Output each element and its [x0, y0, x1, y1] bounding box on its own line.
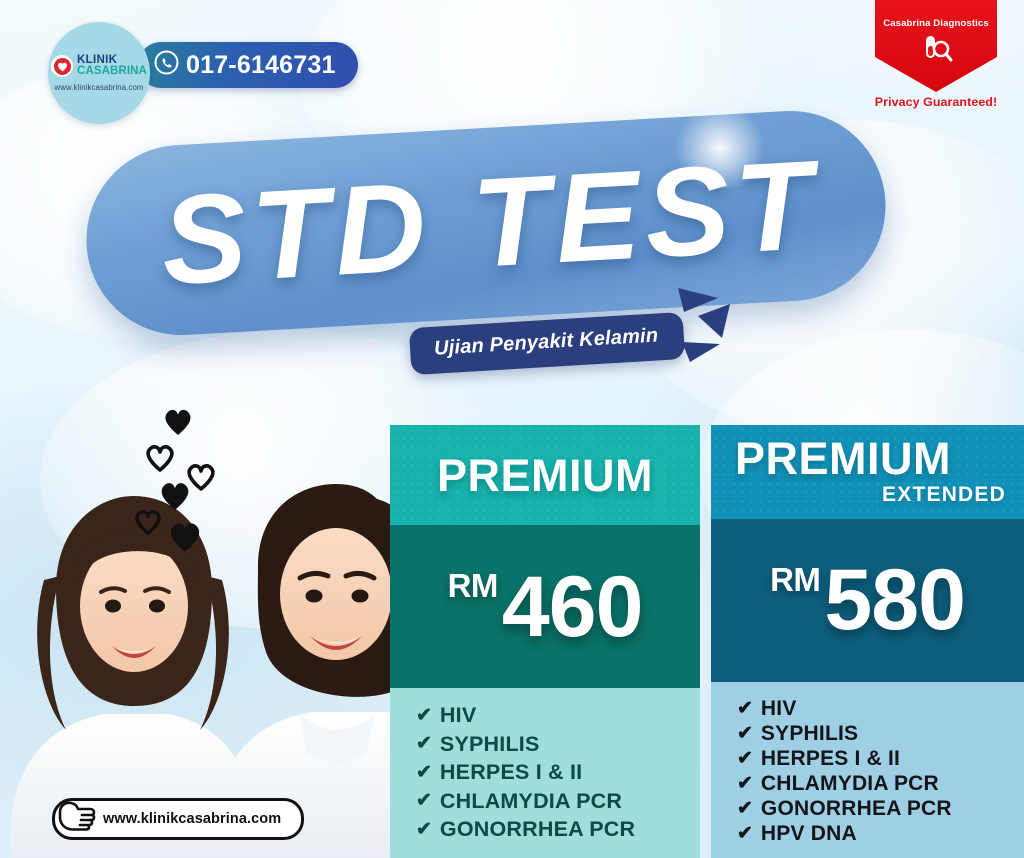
- check-icon: ✔: [416, 791, 432, 810]
- test-list: ✔ HIV ✔ SYPHILIS ✔ HERPES I & II ✔ CHLAM…: [711, 682, 1024, 858]
- check-icon: ✔: [416, 763, 432, 782]
- heart-doodle-icon: [145, 443, 175, 477]
- currency-label: RM: [448, 567, 498, 605]
- privacy-badge: Casabrina Diagnostics Privacy Guaranteed…: [866, 0, 1006, 109]
- price-amount: 580: [824, 557, 965, 643]
- logo-wordmark: KLINIK CASABRINA: [77, 55, 147, 78]
- list-item: ✔ HERPES I & II: [737, 748, 1024, 770]
- test-name: HPV DNA: [761, 823, 857, 845]
- pointing-hand-icon: [56, 800, 98, 837]
- check-icon: ✔: [737, 699, 753, 718]
- whatsapp-icon: [154, 50, 179, 80]
- clinic-logo[interactable]: KLINIK CASABRINA www.klinikcasabrina.com: [48, 22, 150, 124]
- list-item: ✔ HPV DNA: [737, 823, 1024, 845]
- privacy-guaranteed-text: Privacy Guaranteed!: [866, 95, 1006, 109]
- diagnostics-label: Casabrina Diagnostics: [883, 18, 989, 29]
- heart-doodle-icon: [134, 508, 162, 540]
- check-icon: ✔: [737, 799, 753, 818]
- check-icon: ✔: [737, 724, 753, 743]
- phone-number-text: 017-6146731: [186, 51, 336, 80]
- test-name: HIV: [761, 698, 797, 720]
- website-url-text: www.klinikcasabrina.com: [103, 811, 281, 827]
- package-title: PREMIUM: [408, 453, 682, 498]
- check-icon: ✔: [737, 824, 753, 843]
- logo-website-text: www.klinikcasabrina.com: [55, 83, 144, 92]
- list-item: ✔ HERPES I & II: [416, 761, 700, 784]
- std-test-promo-poster: STD TEST Ujian Penyakit Kelamin KLINIK C…: [0, 0, 1024, 858]
- pricing-cards: PREMIUM RM 460 ✔ HIV ✔ SYPHILIS ✔ HERPES…: [390, 425, 1024, 858]
- package-subtitle: EXTENDED: [729, 483, 1006, 507]
- test-name: GONORRHEA PCR: [761, 798, 952, 820]
- test-name: HERPES I & II: [761, 748, 900, 770]
- heart-doodle-icon: [168, 520, 202, 558]
- check-icon: ✔: [737, 749, 753, 768]
- package-card-premium[interactable]: PREMIUM RM 460 ✔ HIV ✔ SYPHILIS ✔ HERPES…: [390, 425, 700, 858]
- test-name: CHLAMYDIA PCR: [440, 790, 622, 813]
- test-name: SYPHILIS: [761, 723, 858, 745]
- starburst-arrow-icon: [672, 282, 736, 373]
- whatsapp-phone-button[interactable]: 017-6146731: [138, 42, 358, 88]
- couple-photo: [0, 438, 400, 858]
- list-item: ✔ CHLAMYDIA PCR: [737, 773, 1024, 795]
- logo-casabrina-text: CASABRINA: [77, 66, 147, 78]
- package-card-premium-extended[interactable]: PREMIUM EXTENDED RM 580 ✔ HIV ✔ SYPHILIS…: [711, 425, 1024, 858]
- test-name: CHLAMYDIA PCR: [761, 773, 939, 795]
- check-icon: ✔: [416, 820, 432, 839]
- test-tube-magnifier-icon: [918, 34, 954, 69]
- list-item: ✔ SYPHILIS: [737, 723, 1024, 745]
- check-icon: ✔: [416, 706, 432, 725]
- list-item: ✔ GONORRHEA PCR: [737, 798, 1024, 820]
- card-price-band: RM 580: [711, 519, 1024, 682]
- price-amount: 460: [502, 564, 643, 650]
- test-name: GONORRHEA PCR: [440, 818, 635, 841]
- check-icon: ✔: [737, 774, 753, 793]
- list-item: ✔ HIV: [416, 704, 700, 727]
- check-icon: ✔: [416, 734, 432, 753]
- privacy-shield-shape: Casabrina Diagnostics: [875, 0, 997, 92]
- card-price-band: RM 460: [390, 525, 700, 688]
- list-item: ✔ CHLAMYDIA PCR: [416, 790, 700, 813]
- list-item: ✔ GONORRHEA PCR: [416, 818, 700, 841]
- subtitle-tag: Ujian Penyakit Kelamin: [409, 312, 686, 375]
- card-header: PREMIUM EXTENDED: [711, 425, 1024, 519]
- heart-doodle-icon: [163, 407, 193, 441]
- test-name: HIV: [440, 704, 476, 727]
- heart-in-circle-icon: [51, 55, 73, 77]
- logo-row: KLINIK CASABRINA: [51, 55, 147, 78]
- test-list: ✔ HIV ✔ SYPHILIS ✔ HERPES I & II ✔ CHLAM…: [390, 688, 700, 858]
- subtitle-text: Ujian Penyakit Kelamin: [433, 324, 658, 360]
- package-title: PREMIUM: [729, 436, 1006, 481]
- test-name: SYPHILIS: [440, 733, 540, 756]
- test-name: HERPES I & II: [440, 761, 582, 784]
- currency-label: RM: [770, 561, 820, 599]
- list-item: ✔ HIV: [737, 698, 1024, 720]
- card-header: PREMIUM: [390, 425, 700, 525]
- heart-doodle-icon: [159, 480, 191, 516]
- list-item: ✔ SYPHILIS: [416, 733, 700, 756]
